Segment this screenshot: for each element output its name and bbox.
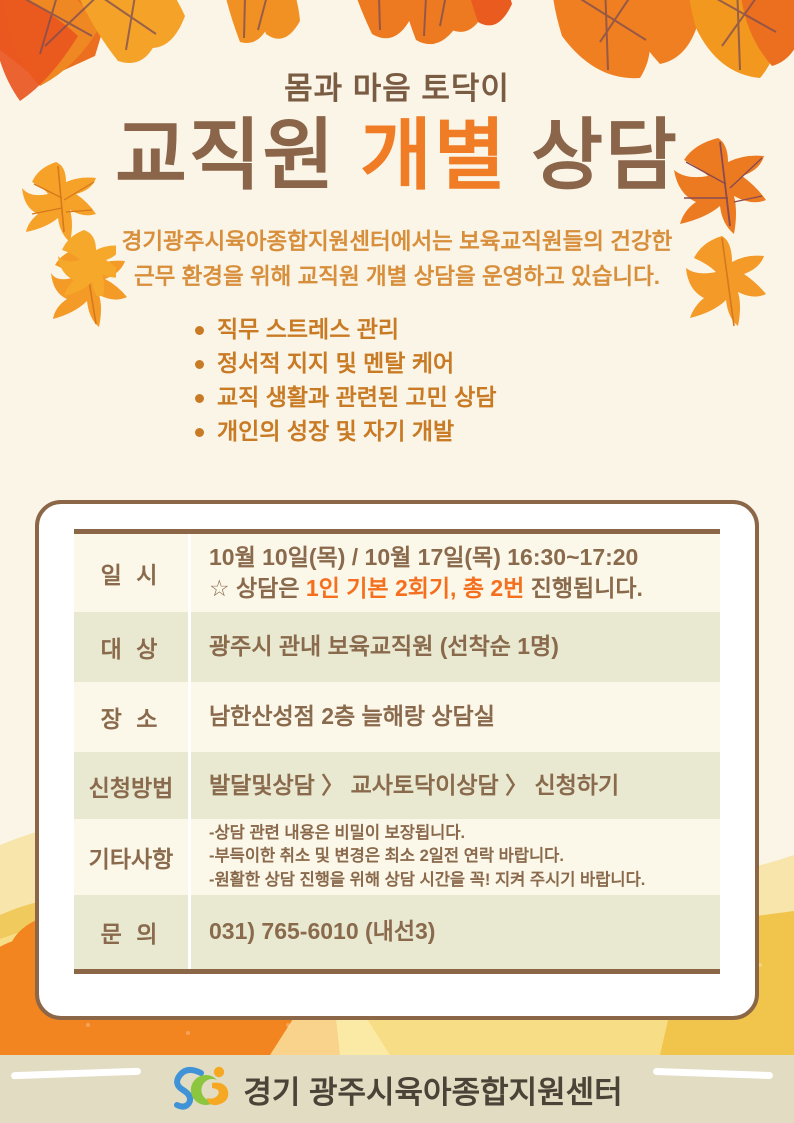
poster-title: 교직원 개별 상담 — [0, 112, 794, 199]
row-value-apply: 발달및상담 〉 교사토닥이상담 〉 신청하기 — [191, 752, 720, 819]
row-value-date: 10월 10일(목) / 10월 17일(목) 16:30~17:20 ☆ 상담… — [191, 534, 720, 612]
row-label-apply: 신청방법 — [74, 752, 191, 819]
row-label-date: 일 시 — [74, 534, 191, 612]
footer-swash-left — [11, 1068, 141, 1080]
footer-bar: 경기 광주시육아종합지원센터 — [0, 1055, 794, 1123]
date-note: ☆ 상담은 1인 기본 2회기, 총 2번 진행됩니다. — [209, 573, 720, 604]
row-label-notes: 기타사항 — [74, 819, 191, 895]
footer-organization-name: 경기 광주시육아종합지원센터 — [243, 1067, 622, 1112]
table-row: 일 시 10월 10일(목) / 10월 17일(목) 16:30~17:20 … — [74, 534, 720, 612]
poster-subtitle: 몸과 마음 토닥이 — [0, 72, 794, 106]
table-row: 장 소 남한산성점 2층 늘해랑 상담실 — [74, 682, 720, 752]
intro-line-1: 경기광주시육아종합지원센터에서는 보육교직원들의 건강한 — [0, 225, 794, 260]
footer-swash-right — [653, 1068, 773, 1079]
details-table: 일 시 10월 10일(목) / 10월 17일(목) 16:30~17:20 … — [74, 529, 720, 974]
list-item: 교직 생활과 관련된 고민 상담 — [187, 381, 607, 415]
note-post: 진행됩니다. — [524, 575, 643, 601]
table-row: 문 의 031) 765-6010 (내선3) — [74, 895, 720, 969]
row-value-contact: 031) 765-6010 (내선3) — [191, 895, 720, 969]
list-item: 정서적 지지 및 멘탈 케어 — [187, 347, 607, 381]
intro-line-2: 근무 환경을 위해 교직원 개별 상담을 운영하고 있습니다. — [0, 260, 794, 295]
info-card: 일 시 10월 10일(목) / 10월 17일(목) 16:30~17:20 … — [35, 500, 759, 1020]
row-label-target: 대 상 — [74, 612, 191, 682]
title-highlight: 개별 — [360, 111, 508, 199]
title-part-1: 교직원 — [115, 111, 360, 199]
row-value-notes: -상담 관련 내용은 비밀이 보장됩니다. -부득이한 취소 및 변경은 최소 … — [191, 819, 720, 895]
sc-logo-icon — [171, 1064, 233, 1114]
row-value-target: 광주시 관내 보육교직원 (선착순 1명) — [191, 612, 720, 682]
program-bullet-list: 직무 스트레스 관리 정서적 지지 및 멘탈 케어 교직 생활과 관련된 고민 … — [187, 313, 607, 448]
table-row: 신청방법 발달및상담 〉 교사토닥이상담 〉 신청하기 — [74, 752, 720, 819]
note-line-3: -원활한 상담 진행을 위해 상담 시간을 꼭! 지켜 주시기 바랍니다. — [209, 869, 720, 892]
row-label-contact: 문 의 — [74, 895, 191, 969]
header: 몸과 마음 토닥이 교직원 개별 상담 — [0, 0, 794, 199]
poster-root: 몸과 마음 토닥이 교직원 개별 상담 경기광주시육아종합지원센터에서는 보육교… — [0, 0, 794, 1123]
note-line-1: -상담 관련 내용은 비밀이 보장됩니다. — [209, 822, 720, 845]
table-row: 대 상 광주시 관내 보육교직원 (선착순 1명) — [74, 612, 720, 682]
list-item: 개인의 성장 및 자기 개발 — [187, 415, 607, 449]
row-value-place: 남한산성점 2층 늘해랑 상담실 — [191, 682, 720, 752]
list-item: 직무 스트레스 관리 — [187, 313, 607, 347]
footer-content: 경기 광주시육아종합지원센터 — [171, 1064, 622, 1114]
note-highlight: 1인 기본 2회기, 총 2번 — [306, 575, 524, 601]
title-part-2: 상담 — [508, 111, 679, 199]
intro-paragraph: 경기광주시육아종합지원센터에서는 보육교직원들의 건강한 근무 환경을 위해 교… — [0, 225, 794, 295]
table-row: 기타사항 -상담 관련 내용은 비밀이 보장됩니다. -부득이한 취소 및 변경… — [74, 819, 720, 895]
note-line-2: -부득이한 취소 및 변경은 최소 2일전 연락 바랍니다. — [209, 845, 720, 868]
row-label-place: 장 소 — [74, 682, 191, 752]
date-line: 10월 10일(목) / 10월 17일(목) 16:30~17:20 — [209, 542, 720, 573]
note-pre: ☆ 상담은 — [209, 575, 306, 601]
